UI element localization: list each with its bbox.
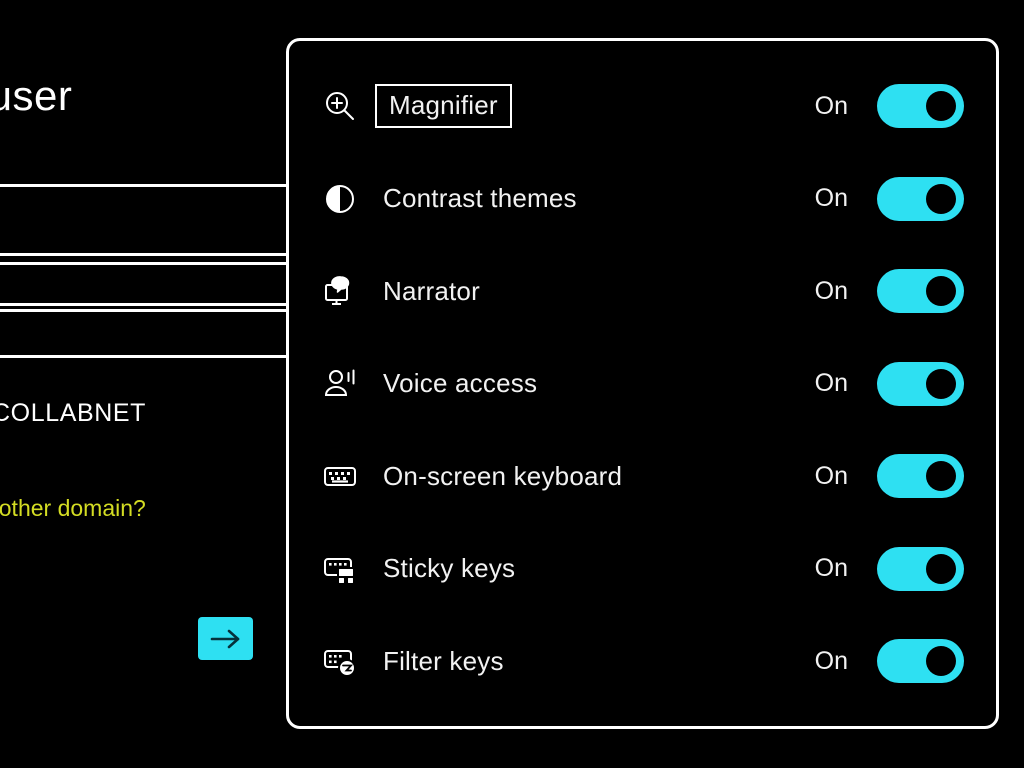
accessibility-label: Filter keys <box>383 646 815 677</box>
accessibility-flyout-panel: Magnifier On Contrast themes On <box>286 38 999 729</box>
accessibility-row-sticky-keys[interactable]: Sticky keys On <box>289 536 996 602</box>
accessibility-row-voice-access[interactable]: Voice access On <box>289 351 996 417</box>
accessibility-row-filter-keys[interactable]: Filter keys On <box>289 628 996 694</box>
toggle-knob <box>926 91 956 121</box>
accessibility-row-on-screen-keyboard[interactable]: On-screen keyboard On <box>289 443 996 509</box>
toggle-knob <box>926 184 956 214</box>
pin-field[interactable] <box>0 309 286 358</box>
accessibility-label: On-screen keyboard <box>383 461 815 492</box>
accessibility-row-contrast-themes[interactable]: Contrast themes On <box>289 166 996 232</box>
accessibility-state: On <box>815 462 848 491</box>
voice-access-icon <box>320 364 360 404</box>
accessibility-toggle[interactable] <box>877 362 964 406</box>
on-screen-keyboard-icon <box>320 456 360 496</box>
accessibility-state: On <box>815 554 848 583</box>
accessibility-toggle[interactable] <box>877 547 964 591</box>
accessibility-state: On <box>815 647 848 676</box>
accessibility-row-narrator[interactable]: Narrator On <box>289 258 996 324</box>
domain-name-label: COLLABNET <box>0 399 146 428</box>
accessibility-toggle[interactable] <box>877 84 964 128</box>
contrast-themes-icon <box>320 179 360 219</box>
toggle-knob <box>926 461 956 491</box>
page-title: r user <box>0 72 72 120</box>
filter-keys-icon <box>320 641 360 681</box>
accessibility-label: Contrast themes <box>383 183 815 214</box>
accessibility-options-list: Magnifier On Contrast themes On <box>289 61 996 706</box>
toggle-knob <box>926 276 956 306</box>
narrator-icon <box>320 271 360 311</box>
accessibility-toggle[interactable] <box>877 177 964 221</box>
password-field[interactable] <box>0 262 286 306</box>
accessibility-label: Voice access <box>383 368 815 399</box>
accessibility-label: Magnifier <box>375 84 512 128</box>
accessibility-toggle[interactable] <box>877 639 964 683</box>
accessibility-label: Narrator <box>383 276 815 307</box>
accessibility-row-magnifier[interactable]: Magnifier On <box>289 73 996 139</box>
submit-button[interactable] <box>198 617 253 660</box>
accessibility-state: On <box>815 92 848 121</box>
magnifier-icon <box>320 86 360 126</box>
other-domain-link[interactable]: o another domain? <box>0 495 146 522</box>
toggle-knob <box>926 646 956 676</box>
sticky-keys-icon <box>320 549 360 589</box>
accessibility-toggle[interactable] <box>877 454 964 498</box>
accessibility-label: Sticky keys <box>383 553 815 584</box>
accessibility-state: On <box>815 369 848 398</box>
toggle-knob <box>926 554 956 584</box>
accessibility-toggle[interactable] <box>877 269 964 313</box>
accessibility-state: On <box>815 184 848 213</box>
signin-screen: r user COLLABNET o another domain? <box>0 0 286 768</box>
username-field[interactable] <box>0 184 286 256</box>
accessibility-state: On <box>815 277 848 306</box>
toggle-knob <box>926 369 956 399</box>
arrow-right-icon <box>209 628 243 650</box>
